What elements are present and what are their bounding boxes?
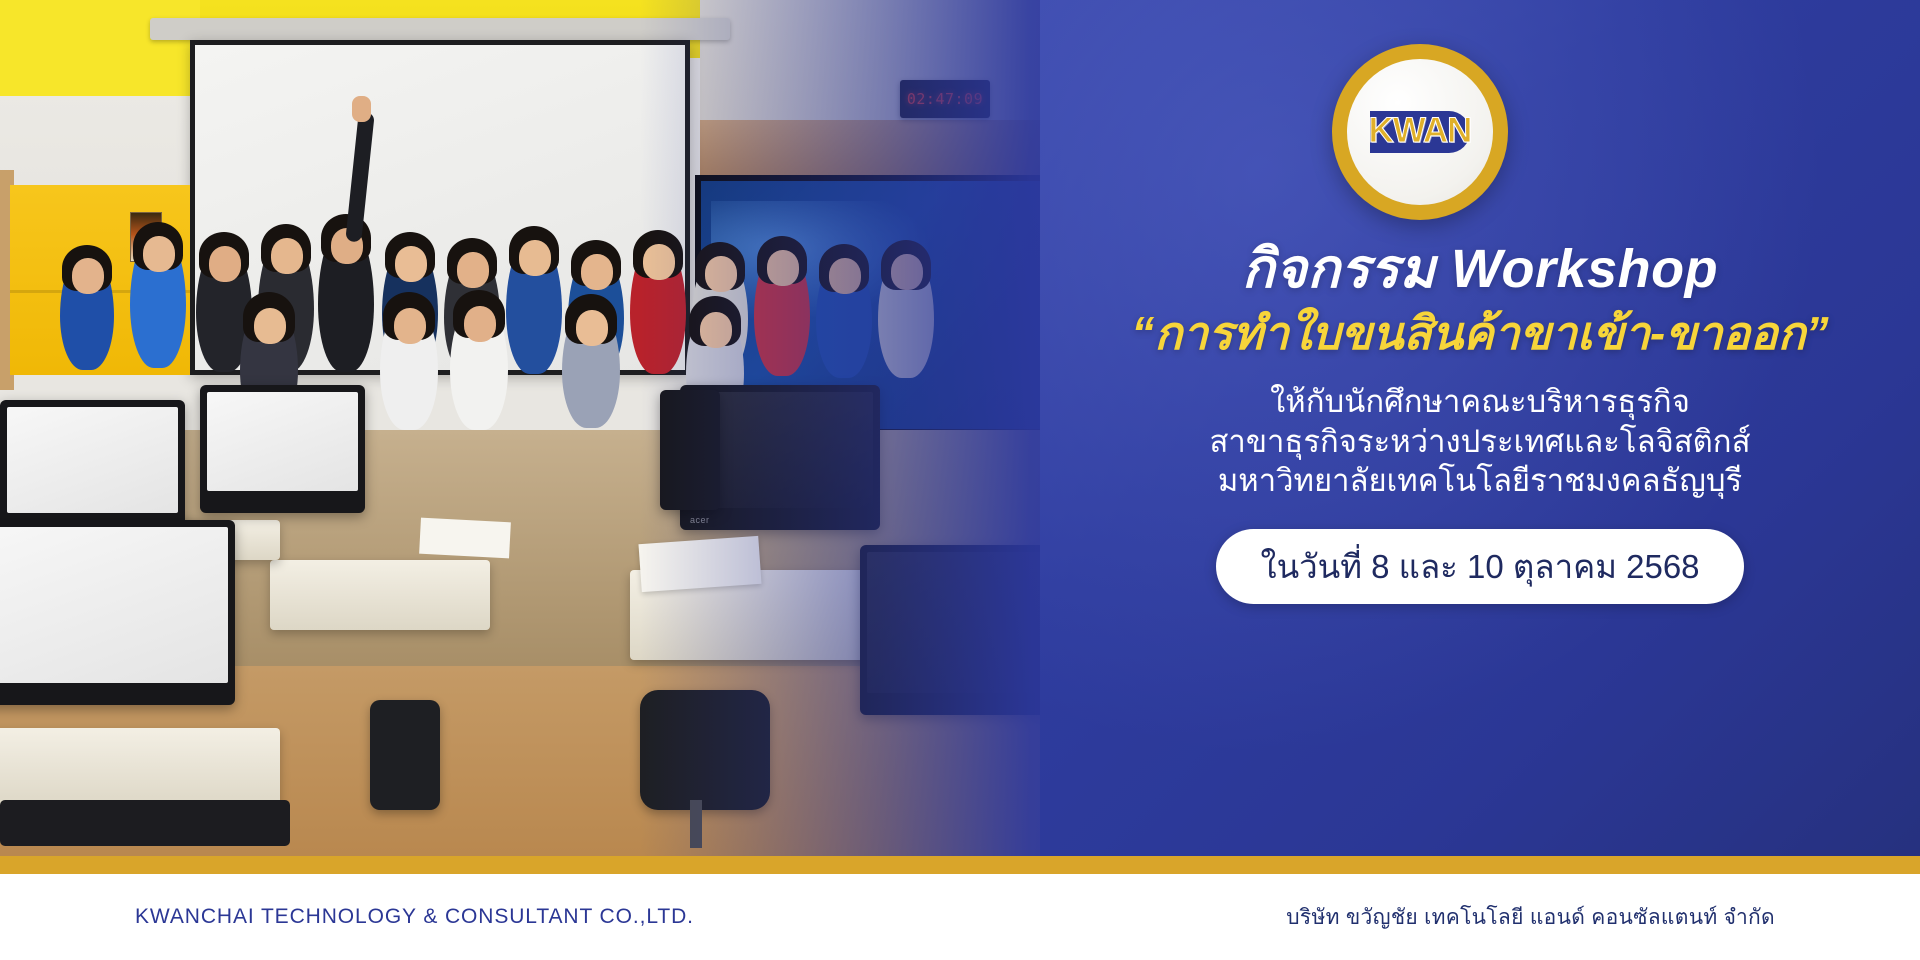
description-line: ให้กับนักศึกษาคณะบริหารธุรกิจ xyxy=(1060,382,1900,422)
promo-subline: “การทำใบขนสินค้าขาเข้า-ขาออก” xyxy=(1060,308,1900,360)
logo-inner-disc: KWAN xyxy=(1347,59,1493,205)
promo-banner: 02:47:09 xyxy=(0,0,1920,960)
footer-company-name-th: บริษัท ขวัญชัย เทคโนโลยี แอนด์ คอนซัลแตน… xyxy=(1286,901,1775,934)
event-date-badge: ในวันที่ 8 และ 10 ตุลาคม 2568 xyxy=(1216,529,1743,604)
logo-mark: KWAN xyxy=(1366,105,1474,159)
company-logo-badge: KWAN xyxy=(1332,44,1508,220)
promo-headline: กิจกรรม Workshop xyxy=(1060,240,1900,298)
description-line: สาขาธุรกิจระหว่างประเทศและโลจิสติกส์ xyxy=(1060,422,1900,462)
logo-wordmark: KWAN xyxy=(1369,111,1472,151)
promo-text-block: กิจกรรม Workshop “การทำใบขนสินค้าขาเข้า-… xyxy=(1040,240,1920,604)
footer-bar: KWANCHAI TECHNOLOGY & CONSULTANT CO.,LTD… xyxy=(0,874,1920,960)
gold-divider-bar xyxy=(0,856,1920,874)
promo-description: ให้กับนักศึกษาคณะบริหารธุรกิจ สาขาธุรกิจ… xyxy=(1060,382,1900,501)
footer-company-name-en: KWANCHAI TECHNOLOGY & CONSULTANT CO.,LTD… xyxy=(135,905,694,929)
description-line: มหาวิทยาลัยเทคโนโลยีราชมงคลธัญบุรี xyxy=(1060,461,1900,501)
